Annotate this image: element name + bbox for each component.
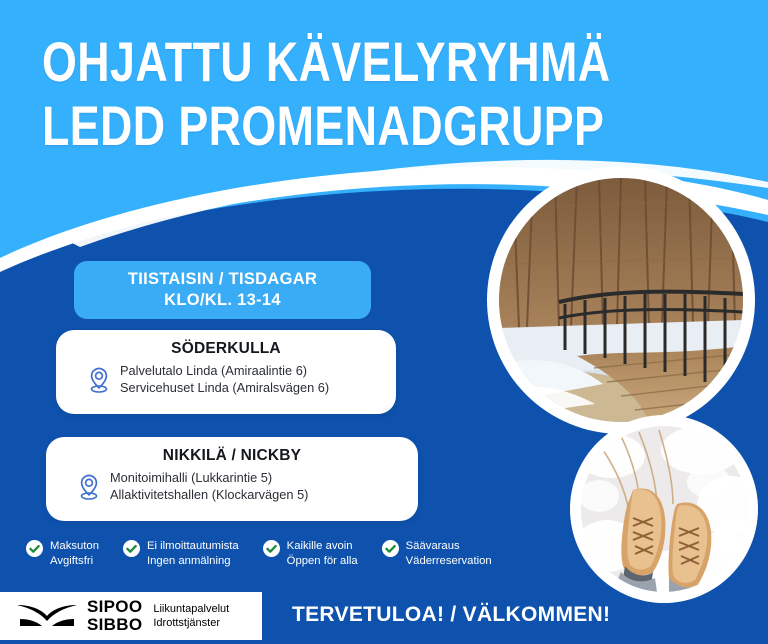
address-sv: Allaktivitetshallen (Klockarvägen 5) xyxy=(110,486,308,503)
schedule-time: KLO/KL. 13-14 xyxy=(164,290,281,311)
winter-boots-photo xyxy=(570,415,758,603)
feature-sv: Ingen anmälning xyxy=(147,554,239,569)
address-fi: Palvelutalo Linda (Amiraalintie 6) xyxy=(120,362,329,379)
map-pin-icon xyxy=(86,365,112,393)
map-pin-icon xyxy=(76,472,102,500)
feature-text: Maksuton Avgiftsfri xyxy=(50,539,99,569)
feature-fi: Maksuton xyxy=(50,539,99,554)
feature-fi: Kaikille avoin xyxy=(287,539,358,554)
feature-sv: Avgiftsfri xyxy=(50,554,99,569)
boardwalk-illustration xyxy=(499,178,743,422)
schedule-badge: TIISTAISIN / TISDAGAR KLO/KL. 13-14 xyxy=(74,261,371,319)
department-sv: Idrottstjänster xyxy=(153,616,229,631)
logo-name-sv: SIBBO xyxy=(87,616,142,634)
schedule-days: TIISTAISIN / TISDAGAR xyxy=(128,269,317,290)
winter-boots-image xyxy=(581,426,747,592)
poster-canvas: OHJATTU KÄVELYRYHMÄ LEDD PROMENADGRUPP T… xyxy=(0,0,768,644)
location-body: Monitoimihalli (Lukkarintie 5) Allaktivi… xyxy=(46,469,418,503)
feature-fi: Säävaraus xyxy=(406,539,492,554)
feature-text: Säävaraus Väderreservation xyxy=(406,539,492,569)
feature-sv: Öppen för alla xyxy=(287,554,358,569)
address-sv: Servicehuset Linda (Amiralsvägen 6) xyxy=(120,379,329,396)
location-addresses: Palvelutalo Linda (Amiraalintie 6) Servi… xyxy=(120,362,329,396)
logo-department: Liikuntapalvelut Idrottstjänster xyxy=(153,602,229,631)
title-line-fi: OHJATTU KÄVELYRYHMÄ xyxy=(42,30,522,94)
check-circle-icon xyxy=(26,540,43,557)
check-circle-icon xyxy=(263,540,280,557)
sipoo-wings-logo-icon xyxy=(16,601,78,631)
location-title: SÖDERKULLA xyxy=(56,340,396,358)
poster-title: OHJATTU KÄVELYRYHMÄ LEDD PROMENADGRUPP xyxy=(42,30,642,158)
feature-sv: Väderreservation xyxy=(406,554,492,569)
welcome-text: TERVETULOA! / VÄLKOMMEN! xyxy=(292,603,610,627)
logo-name-fi: SIPOO xyxy=(87,598,142,616)
title-line-sv: LEDD PROMENADGRUPP xyxy=(42,94,522,158)
address-fi: Monitoimihalli (Lukkarintie 5) xyxy=(110,469,308,486)
feature-item: Ei ilmoittautumista Ingen anmälning xyxy=(123,539,239,569)
feature-list: Maksuton Avgiftsfri Ei ilmoittautumista … xyxy=(26,539,516,569)
winter-boardwalk-image xyxy=(499,178,743,422)
sipoo-logo-wordmark: SIPOO SIBBO xyxy=(87,598,142,634)
location-card-nikkila: NIKKILÄ / NICKBY Monitoimihalli (Lukkari… xyxy=(46,437,418,521)
winter-boardwalk-photo xyxy=(487,166,755,434)
boots-illustration xyxy=(581,426,747,592)
location-body: Palvelutalo Linda (Amiraalintie 6) Servi… xyxy=(56,362,396,396)
feature-text: Kaikille avoin Öppen för alla xyxy=(287,539,358,569)
feature-item: Säävaraus Väderreservation xyxy=(382,539,492,569)
feature-fi: Ei ilmoittautumista xyxy=(147,539,239,554)
feature-item: Maksuton Avgiftsfri xyxy=(26,539,99,569)
location-title: NIKKILÄ / NICKBY xyxy=(46,447,418,465)
check-circle-icon xyxy=(382,540,399,557)
feature-text: Ei ilmoittautumista Ingen anmälning xyxy=(147,539,239,569)
department-fi: Liikuntapalvelut xyxy=(153,602,229,617)
sipoo-logo-bar: SIPOO SIBBO Liikuntapalvelut Idrottstjän… xyxy=(0,592,262,640)
location-card-soderkulla: SÖDERKULLA Palvelutalo Linda (Amiraalint… xyxy=(56,330,396,414)
check-circle-icon xyxy=(123,540,140,557)
location-addresses: Monitoimihalli (Lukkarintie 5) Allaktivi… xyxy=(110,469,308,503)
feature-item: Kaikille avoin Öppen för alla xyxy=(263,539,358,569)
